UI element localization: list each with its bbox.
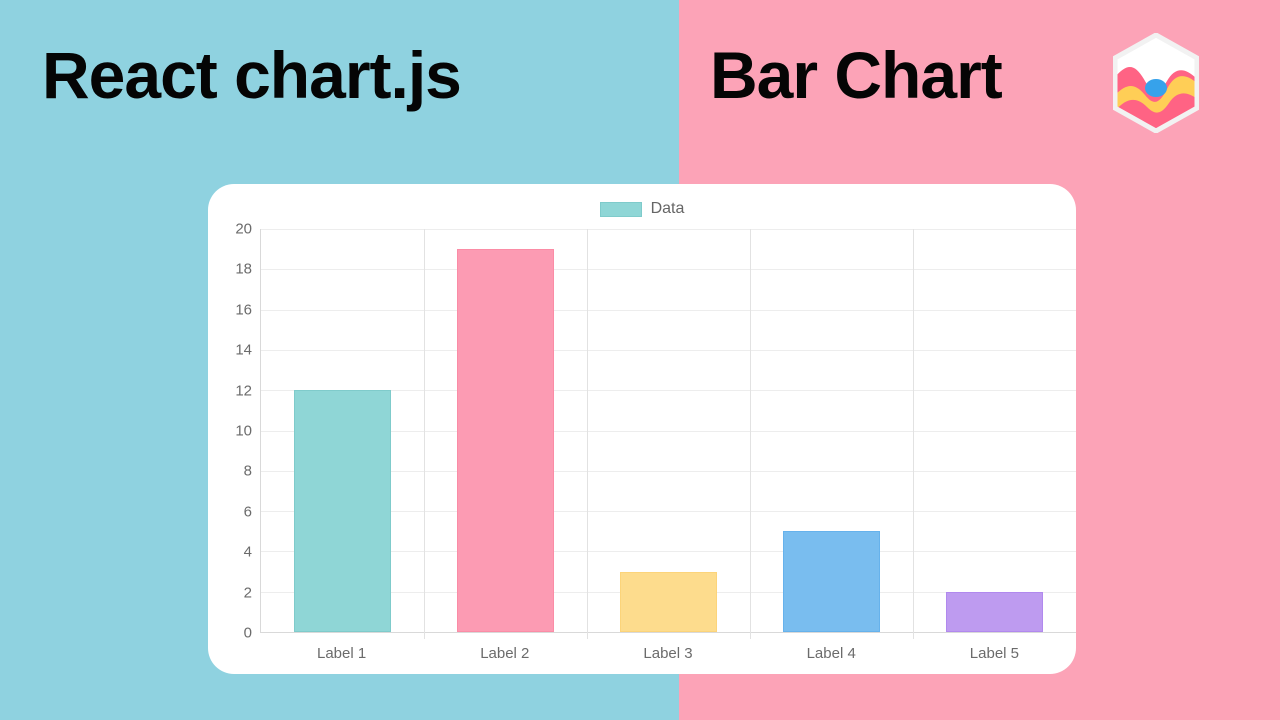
y-axis-tick-label: 2: [244, 584, 252, 601]
x-axis: Label 1Label 2Label 3Label 4Label 5: [260, 633, 1076, 673]
y-axis-tick-label: 4: [244, 544, 252, 561]
bar-slot: [750, 229, 913, 632]
chart-card: Data 02468101214161820 Label 1Label 2Lab…: [208, 184, 1076, 674]
x-axis-tick-label: Label 4: [807, 645, 856, 662]
x-axis-tick: Label 1: [260, 633, 423, 673]
y-axis-tick-label: 10: [235, 423, 252, 440]
plot-wrapper: 02468101214161820 Label 1Label 2Label 3L…: [208, 229, 1076, 674]
y-axis-tick-label: 18: [235, 261, 252, 278]
bar-slot: [424, 229, 587, 632]
bar-slot: [587, 229, 750, 632]
bar[interactable]: [620, 572, 716, 632]
x-axis-tick: Label 5: [913, 633, 1076, 673]
legend-swatch-icon: [600, 202, 642, 217]
y-axis: 02468101214161820: [208, 229, 260, 633]
y-axis-tick-label: 0: [244, 625, 252, 642]
bars-layer: [261, 229, 1076, 632]
bar[interactable]: [294, 390, 390, 632]
screenshot-root: React chart.js Bar Chart Data: [0, 0, 1280, 720]
x-axis-tick: Label 2: [423, 633, 586, 673]
x-axis-tick: Label 3: [586, 633, 749, 673]
y-axis-tick-label: 8: [244, 463, 252, 480]
y-axis-tick-label: 6: [244, 503, 252, 520]
y-axis-tick-label: 12: [235, 382, 252, 399]
plot-area: [260, 229, 1076, 633]
chart-legend: Data: [208, 200, 1076, 218]
chartjs-logo-icon: [1113, 33, 1199, 133]
bar-slot: [261, 229, 424, 632]
x-axis-tick-label: Label 1: [317, 645, 366, 662]
legend-label: Data: [651, 200, 685, 218]
x-axis-tick-label: Label 5: [970, 645, 1019, 662]
y-axis-tick-label: 14: [235, 342, 252, 359]
legend-item-data[interactable]: Data: [600, 200, 685, 218]
y-axis-tick-label: 16: [235, 301, 252, 318]
bar[interactable]: [783, 531, 879, 632]
page-title-right: Bar Chart: [710, 42, 1002, 108]
x-axis-tick-label: Label 3: [643, 645, 692, 662]
page-title-left: React chart.js: [42, 42, 461, 108]
bar-slot: [913, 229, 1076, 632]
x-axis-tick: Label 4: [750, 633, 913, 673]
y-axis-tick-label: 20: [235, 221, 252, 238]
bar[interactable]: [946, 592, 1042, 632]
bar[interactable]: [457, 249, 553, 632]
x-axis-tick-label: Label 2: [480, 645, 529, 662]
